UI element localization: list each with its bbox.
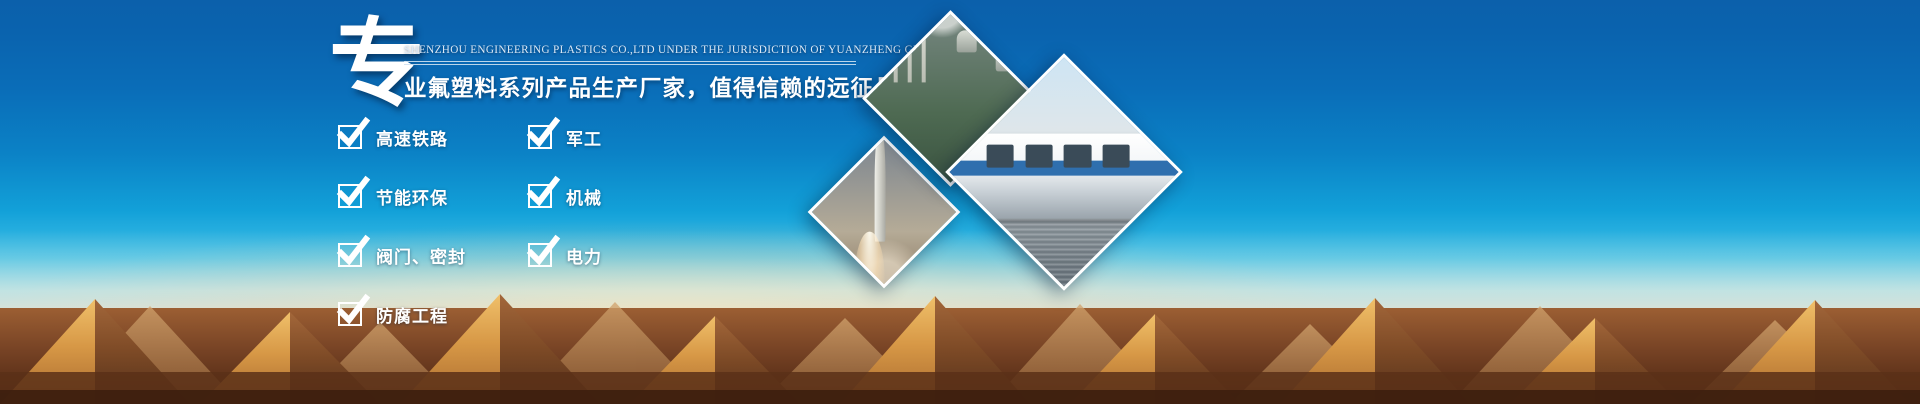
feature-label: 机械	[566, 184, 602, 209]
feature-item: 阀门、密封	[338, 238, 466, 272]
divider-rule	[404, 61, 856, 65]
check-box-icon	[338, 125, 362, 149]
check-box-icon	[528, 184, 552, 208]
check-box-icon	[528, 243, 552, 267]
feature-label: 高速铁路	[376, 125, 448, 150]
feature-label: 电力	[566, 243, 602, 268]
feature-item: 防腐工程	[338, 297, 466, 331]
feature-item: 机械	[528, 179, 602, 213]
check-box-icon	[528, 125, 552, 149]
feature-column-right: 军工 机械 电力	[528, 120, 602, 297]
promo-banner: 专 SHENZHOU ENGINEERING PLASTICS CO.,LTD …	[0, 0, 1920, 404]
check-box-icon	[338, 184, 362, 208]
check-box-icon	[338, 302, 362, 326]
feature-label: 节能环保	[376, 184, 448, 209]
feature-item: 高速铁路	[338, 120, 466, 154]
feature-column-left: 高速铁路 节能环保 阀门、密封 防腐工程	[338, 120, 466, 356]
feature-item: 电力	[528, 238, 602, 272]
photo-collage	[830, 28, 1230, 298]
feature-label: 阀门、密封	[376, 243, 466, 268]
check-box-icon	[338, 243, 362, 267]
feature-item: 节能环保	[338, 179, 466, 213]
feature-label: 防腐工程	[376, 302, 448, 327]
feature-label: 军工	[566, 125, 602, 150]
feature-item: 军工	[528, 120, 602, 154]
